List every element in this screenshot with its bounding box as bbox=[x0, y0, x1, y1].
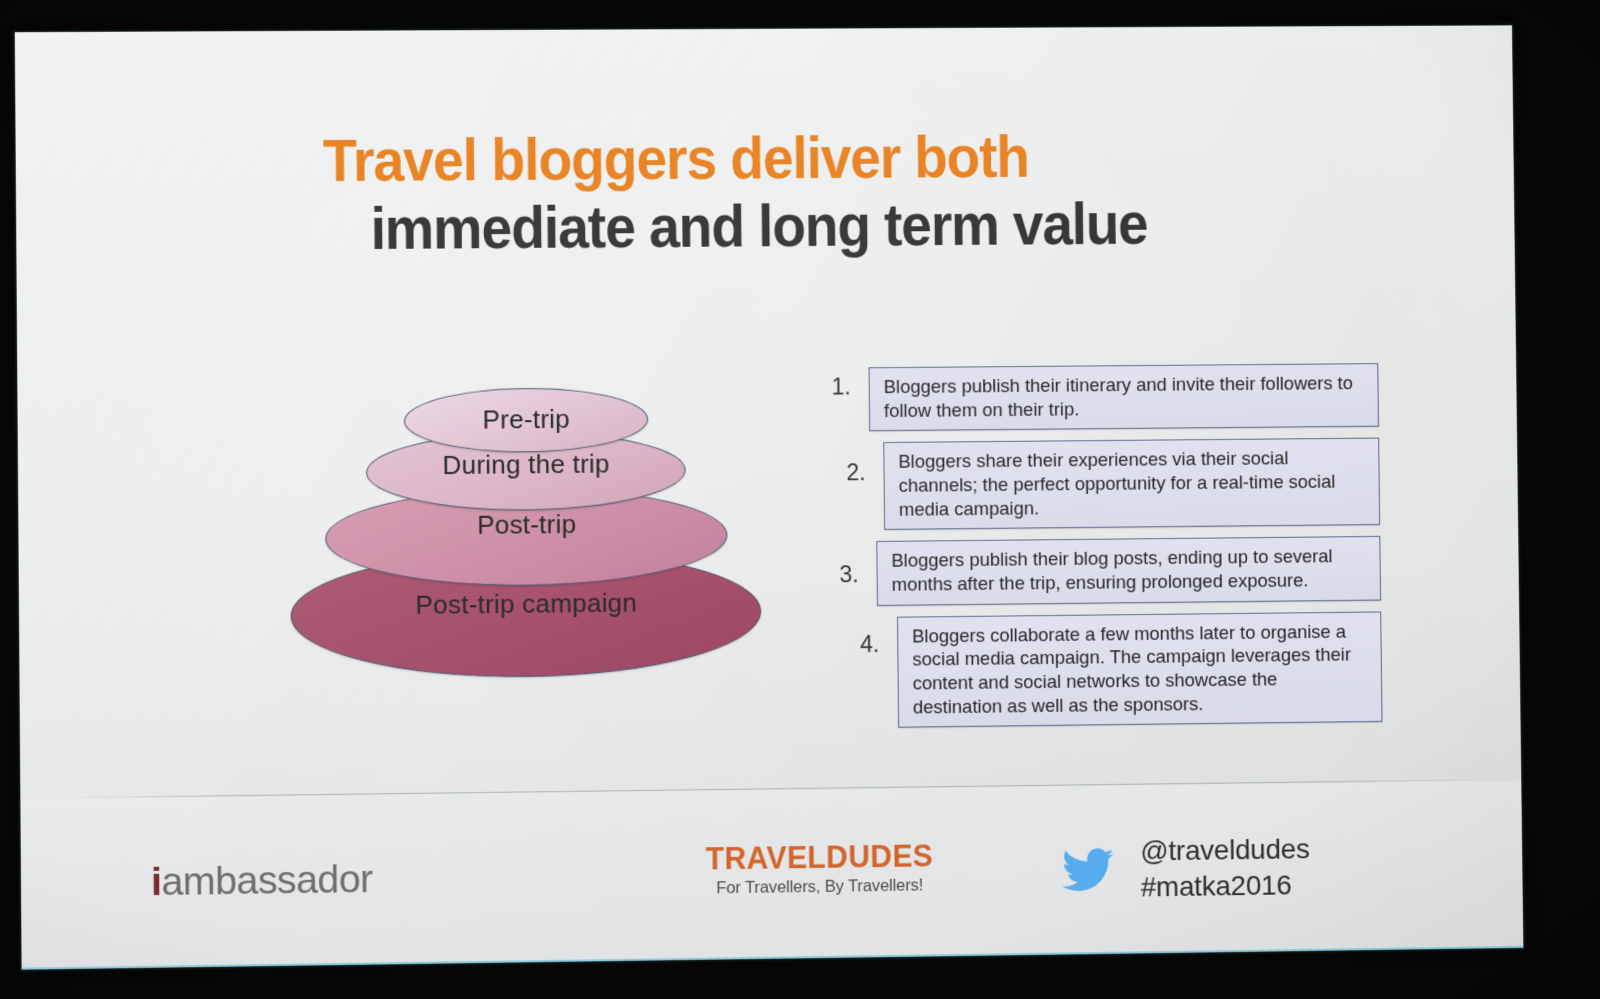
traveldudes-wordmark: TRAVELDUDES bbox=[674, 838, 965, 878]
step-item: 2. Bloggers share their experiences via … bbox=[827, 438, 1380, 531]
logo-iambassador: iambassador bbox=[151, 858, 373, 905]
slide-title: Travel bloggers deliver both immediate a… bbox=[15, 121, 1386, 266]
logo-traveldudes: TRAVELDUDES For Travellers, By Traveller… bbox=[669, 838, 970, 899]
ellipse-label-post-trip-campaign: Post-trip campaign bbox=[415, 587, 637, 620]
step-item: 1. Bloggers publish their itinerary and … bbox=[813, 363, 1379, 432]
step-item: 4. Bloggers collaborate a few months lat… bbox=[841, 611, 1382, 729]
step-text-box-1: Bloggers publish their itinerary and inv… bbox=[869, 363, 1379, 431]
title-line-primary: Travel bloggers deliver both bbox=[71, 121, 1332, 197]
ellipse-label-pre-trip: Pre-trip bbox=[482, 403, 570, 435]
step-text-box-3: Bloggers publish their blog posts, endin… bbox=[876, 536, 1381, 605]
step-text-box-2: Bloggers share their experiences via the… bbox=[883, 438, 1380, 530]
step-number-2: 2. bbox=[827, 442, 883, 486]
stacked-ellipse-diagram: Post-trip campaign Post-trip During the … bbox=[289, 380, 764, 696]
ellipse-label-during-the-trip: During the trip bbox=[442, 448, 609, 481]
twitter-handle-lines: @traveldudes #matka2016 bbox=[1140, 831, 1310, 905]
twitter-hashtag: #matka2016 bbox=[1141, 867, 1311, 905]
traveldudes-tagline: For Travellers, By Travellers! bbox=[670, 876, 970, 899]
twitter-bird-icon bbox=[1057, 844, 1119, 897]
slide-footer: iambassador TRAVELDUDES For Travellers, … bbox=[20, 781, 1523, 970]
projected-slide-photo: Travel bloggers deliver both immediate a… bbox=[0, 0, 1600, 999]
step-text-box-4: Bloggers collaborate a few months later … bbox=[897, 611, 1382, 728]
title-line-secondary: immediate and long term value bbox=[72, 189, 1333, 266]
step-number-1: 1. bbox=[813, 367, 869, 400]
step-item: 3. Bloggers publish their blog posts, en… bbox=[820, 536, 1381, 606]
presentation-slide: Travel bloggers deliver both immediate a… bbox=[15, 25, 1524, 969]
iambassador-i-mark: i bbox=[151, 861, 162, 905]
twitter-contact-block: @traveldudes #matka2016 bbox=[1057, 831, 1311, 906]
iambassador-wordmark: ambassador bbox=[161, 858, 372, 904]
step-number-3: 3. bbox=[820, 541, 876, 589]
step-number-4: 4. bbox=[841, 616, 897, 658]
slide-perspective-wrapper: Travel bloggers deliver both immediate a… bbox=[15, 25, 1524, 979]
numbered-steps-list: 1. Bloggers publish their itinerary and … bbox=[813, 363, 1383, 740]
ellipse-label-post-trip: Post-trip bbox=[477, 509, 576, 541]
twitter-handle: @traveldudes bbox=[1140, 831, 1310, 869]
